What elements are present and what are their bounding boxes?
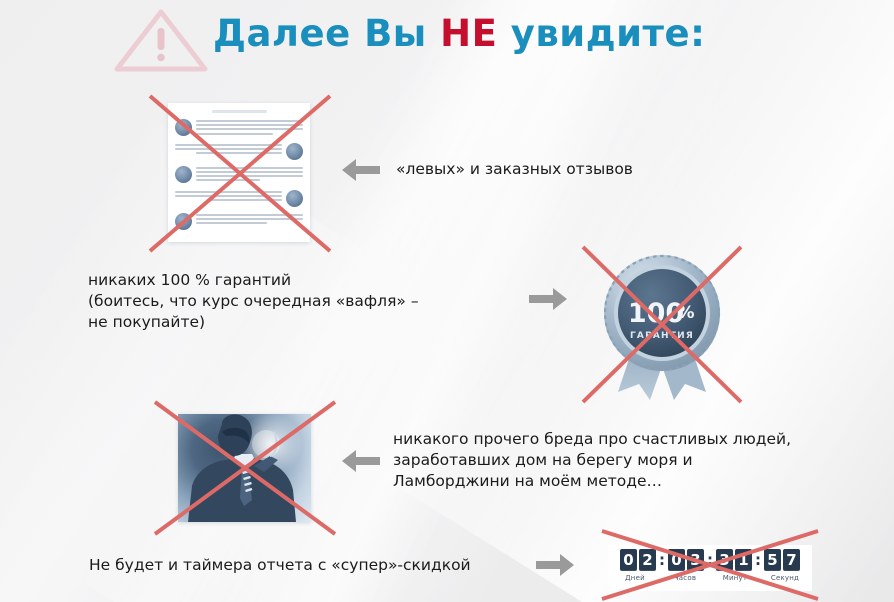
arrow-right-icon <box>527 286 569 312</box>
title-text-negation: НЕ <box>440 12 497 55</box>
timer-digit: 1 <box>735 549 752 571</box>
timer-digit: 7 <box>783 549 800 571</box>
caption-happy-people: никакого прочего бреда про счастливых лю… <box>393 429 791 492</box>
timer-digit: 3 <box>716 549 733 571</box>
testimonial-sheet <box>168 103 310 242</box>
avatar <box>286 190 303 207</box>
testimonial-entry <box>175 166 303 184</box>
timer-digit: 2 <box>639 549 656 571</box>
arrow-left-icon <box>340 157 382 183</box>
testimonial-entry <box>175 143 303 160</box>
timer-digit: 5 <box>764 549 781 571</box>
testimonial-text-lines <box>175 190 282 204</box>
avatar <box>175 119 192 136</box>
testimonials-screenshot <box>145 92 335 255</box>
timer-hours-group: 0 3 <box>668 549 704 571</box>
timer-label-hours: Часов <box>666 574 704 582</box>
caption-guarantees: никаких 100 % гарантий (боитесь, что кур… <box>88 270 419 333</box>
timer-label-minutes: Минут <box>716 574 754 582</box>
caption-countdown: Не будет и таймера отчета с «супер»-скид… <box>89 555 471 576</box>
timer-labels: Дней Часов Минут Секунд <box>608 574 812 582</box>
arrow-left-icon <box>340 448 382 474</box>
timer-digit: 0 <box>620 549 637 571</box>
caption-fake-reviews: «левых» и заказных отзывов <box>396 159 633 180</box>
testimonial-entry <box>175 119 303 137</box>
testimonial-entry <box>175 190 303 207</box>
medal-icon: 100 % ГАРАНТИЯ <box>592 250 732 400</box>
timer-days-group: 0 2 <box>620 549 656 571</box>
timer-separator: : <box>754 551 762 569</box>
avatar <box>286 143 303 160</box>
svg-text:ГАРАНТИЯ: ГАРАНТИЯ <box>630 331 694 341</box>
arrow-right-icon <box>534 552 576 578</box>
timer-digit: 3 <box>687 549 704 571</box>
title-text-tail: увидите: <box>497 12 705 55</box>
timer-label-seconds: Секунд <box>766 574 804 582</box>
avatar <box>175 213 192 230</box>
countdown-timer: 0 2 : 0 3 : 3 1 : 5 7 <box>598 528 822 602</box>
testimonial-text-lines <box>196 119 303 137</box>
photo-frame <box>178 414 311 522</box>
sheet-header-bar <box>212 110 267 113</box>
svg-text:100: 100 <box>628 298 684 329</box>
testimonial-text-lines <box>175 143 282 157</box>
avatar <box>175 166 192 183</box>
warning-triangle-icon <box>113 6 209 74</box>
svg-text:%: % <box>677 303 694 323</box>
title-text-lead: Далее Вы <box>213 12 440 55</box>
businessman-silhouette-icon <box>178 414 311 522</box>
testimonial-entry <box>175 213 303 230</box>
timer-minutes-group: 3 1 <box>716 549 752 571</box>
timer-digit: 0 <box>668 549 685 571</box>
timer-label-days: Дней <box>616 574 654 582</box>
testimonial-text-lines <box>196 166 303 184</box>
timer-digits: 0 2 : 0 3 : 3 1 : 5 7 <box>608 545 812 571</box>
testimonial-text-lines <box>196 213 303 227</box>
slide-canvas: Далее Вы НЕ увидите: <box>0 0 894 602</box>
timer-separator: : <box>706 551 714 569</box>
page-title: Далее Вы НЕ увидите: <box>213 12 705 55</box>
timer-widget: 0 2 : 0 3 : 3 1 : 5 7 <box>608 545 812 591</box>
guarantee-badge: 100 % ГАРАНТИЯ <box>578 243 746 406</box>
businessman-photo <box>150 398 340 538</box>
timer-seconds-group: 5 7 <box>764 549 800 571</box>
timer-separator: : <box>658 551 666 569</box>
